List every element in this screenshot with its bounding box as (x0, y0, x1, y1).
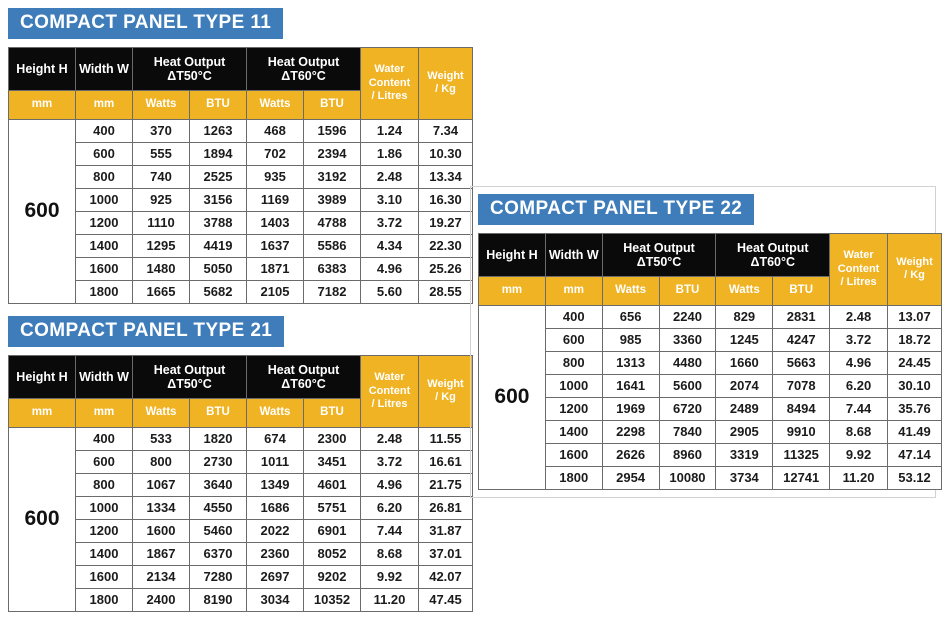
dt60-watts-value: 829 (716, 305, 773, 328)
dt60-btu-value: 6901 (304, 519, 361, 542)
col-header-height: Height H (479, 233, 546, 276)
col-header-height: Height H (9, 355, 76, 398)
table-row: 80010673640134946014.9621.75 (9, 473, 473, 496)
dt50-watts-value: 533 (133, 427, 190, 450)
unit-header-dt50-btu: BTU (190, 90, 247, 119)
weight-value: 42.07 (419, 565, 473, 588)
dt60-watts-value: 702 (247, 142, 304, 165)
unit-header-dt50-btu: BTU (659, 276, 716, 305)
weight-value: 22.30 (419, 234, 473, 257)
dt60-btu-value: 4788 (304, 211, 361, 234)
dt50-watts-value: 1110 (133, 211, 190, 234)
dt60-watts-value: 1403 (247, 211, 304, 234)
width-value: 1400 (76, 542, 133, 565)
unit-header-height-mm: mm (9, 398, 76, 427)
water-content-value: 1.24 (361, 119, 419, 142)
weight-value: 24.45 (888, 351, 942, 374)
col-header-water-content: WaterContent/ Litres (361, 47, 419, 119)
width-value: 1400 (76, 234, 133, 257)
dt50-btu-value: 3788 (190, 211, 247, 234)
dt50-watts-value: 1867 (133, 542, 190, 565)
dt60-btu-value: 2394 (304, 142, 361, 165)
dt50-watts-value: 555 (133, 142, 190, 165)
dt50-watts-value: 800 (133, 450, 190, 473)
dt60-btu-value: 5586 (304, 234, 361, 257)
dt50-btu-value: 6720 (659, 397, 716, 420)
dt50-watts-value: 985 (602, 328, 659, 351)
weight-value: 10.30 (419, 142, 473, 165)
dt50-btu-value: 2730 (190, 450, 247, 473)
dt50-watts-value: 1313 (602, 351, 659, 374)
col-header-water-content: WaterContent/ Litres (361, 355, 419, 427)
table-row: 140018676370236080528.6837.01 (9, 542, 473, 565)
dt50-btu-value: 1263 (190, 119, 247, 142)
height-value: 600 (9, 427, 76, 611)
dt50-btu-value: 5460 (190, 519, 247, 542)
table-row: 120016005460202269017.4431.87 (9, 519, 473, 542)
width-value: 800 (545, 351, 602, 374)
panel-type-21: COMPACT PANEL TYPE 21 Height HWidth WHea… (8, 316, 473, 612)
panel-title-type-21: COMPACT PANEL TYPE 21 (8, 316, 284, 347)
water-content-value: 2.48 (361, 427, 419, 450)
dt50-watts-value: 656 (602, 305, 659, 328)
dt60-btu-value: 3451 (304, 450, 361, 473)
dt60-watts-value: 1686 (247, 496, 304, 519)
dt50-btu-value: 1820 (190, 427, 247, 450)
col-header-heat-output-dt60: Heat OutputΔT60°C (247, 355, 361, 398)
dt50-btu-value: 5682 (190, 280, 247, 303)
dt50-btu-value: 2525 (190, 165, 247, 188)
unit-header-dt60-btu: BTU (304, 398, 361, 427)
dt60-watts-value: 1660 (716, 351, 773, 374)
table-row: 600400370126346815961.247.34 (9, 119, 473, 142)
dt50-btu-value: 1894 (190, 142, 247, 165)
col-header-weight: Weight/ Kg (888, 233, 942, 305)
dt50-btu-value: 5050 (190, 257, 247, 280)
table-wrapper-type-21: Height HWidth WHeat OutputΔT50°CHeat Out… (8, 355, 473, 612)
weight-value: 19.27 (419, 211, 473, 234)
width-value: 600 (545, 328, 602, 351)
table-row: 10009253156116939893.1016.30 (9, 188, 473, 211)
col-header-width: Width W (545, 233, 602, 276)
col-header-width: Width W (76, 47, 133, 90)
table-row: 600400533182067423002.4811.55 (9, 427, 473, 450)
width-value: 1800 (76, 588, 133, 611)
table-row: 100016415600207470786.2030.10 (479, 374, 942, 397)
dt60-watts-value: 1011 (247, 450, 304, 473)
water-content-value: 7.44 (830, 397, 888, 420)
panel-type-22: COMPACT PANEL TYPE 22 Height HWidth WHea… (478, 194, 942, 490)
dt60-watts-value: 3319 (716, 443, 773, 466)
dt50-btu-value: 4419 (190, 234, 247, 257)
unit-header-dt60-btu: BTU (304, 90, 361, 119)
dt60-watts-value: 2074 (716, 374, 773, 397)
weight-value: 13.34 (419, 165, 473, 188)
dt60-btu-value: 11325 (773, 443, 830, 466)
header-row-primary: Height HWidth WHeat OutputΔT50°CHeat Out… (479, 233, 942, 276)
water-content-value: 9.92 (830, 443, 888, 466)
dt60-btu-value: 6383 (304, 257, 361, 280)
width-value: 600 (76, 142, 133, 165)
unit-header-dt50-btu: BTU (190, 398, 247, 427)
water-content-value: 3.72 (361, 211, 419, 234)
table-row: 80013134480166056634.9624.45 (479, 351, 942, 374)
width-value: 1000 (545, 374, 602, 397)
width-value: 1600 (76, 257, 133, 280)
table-row: 800740252593531922.4813.34 (9, 165, 473, 188)
dt50-watts-value: 370 (133, 119, 190, 142)
water-content-value: 11.20 (830, 466, 888, 489)
width-value: 1200 (76, 519, 133, 542)
spec-table-type-21: Height HWidth WHeat OutputΔT50°CHeat Out… (8, 355, 473, 612)
width-value: 1000 (76, 496, 133, 519)
panel-title-type-22: COMPACT PANEL TYPE 22 (478, 194, 754, 225)
unit-header-width-mm: mm (76, 398, 133, 427)
dt60-btu-value: 12741 (773, 466, 830, 489)
dt60-btu-value: 9910 (773, 420, 830, 443)
col-header-height: Height H (9, 47, 76, 90)
water-content-value: 2.48 (361, 165, 419, 188)
dt50-watts-value: 1641 (602, 374, 659, 397)
width-value: 800 (76, 165, 133, 188)
water-content-value: 9.92 (361, 565, 419, 588)
weight-value: 13.07 (888, 305, 942, 328)
water-content-value: 3.72 (361, 450, 419, 473)
width-value: 600 (76, 450, 133, 473)
dt50-btu-value: 3640 (190, 473, 247, 496)
dt50-btu-value: 5600 (659, 374, 716, 397)
dt50-btu-value: 2240 (659, 305, 716, 328)
unit-header-height-mm: mm (9, 90, 76, 119)
dt60-btu-value: 3192 (304, 165, 361, 188)
dt50-watts-value: 1600 (133, 519, 190, 542)
dt60-watts-value: 2905 (716, 420, 773, 443)
dt60-btu-value: 5663 (773, 351, 830, 374)
water-content-value: 3.72 (830, 328, 888, 351)
unit-header-height-mm: mm (479, 276, 546, 305)
col-header-width: Width W (76, 355, 133, 398)
dt60-btu-value: 4601 (304, 473, 361, 496)
unit-header-dt50-watts: Watts (133, 398, 190, 427)
table-row: 140022987840290599108.6841.49 (479, 420, 942, 443)
weight-value: 53.12 (888, 466, 942, 489)
dt60-watts-value: 468 (247, 119, 304, 142)
water-content-value: 5.60 (361, 280, 419, 303)
unit-header-width-mm: mm (545, 276, 602, 305)
water-content-value: 11.20 (361, 588, 419, 611)
weight-value: 7.34 (419, 119, 473, 142)
water-content-value: 8.68 (830, 420, 888, 443)
dt50-watts-value: 1067 (133, 473, 190, 496)
table-row: 120019696720248984947.4435.76 (479, 397, 942, 420)
dt60-btu-value: 2300 (304, 427, 361, 450)
spec-table-type-22: Height HWidth WHeat OutputΔT50°CHeat Out… (478, 233, 942, 490)
weight-value: 26.81 (419, 496, 473, 519)
dt60-btu-value: 10352 (304, 588, 361, 611)
weight-value: 11.55 (419, 427, 473, 450)
weight-value: 25.26 (419, 257, 473, 280)
dt50-btu-value: 4480 (659, 351, 716, 374)
table-row: 1600262689603319113259.9247.14 (479, 443, 942, 466)
dt60-btu-value: 7182 (304, 280, 361, 303)
unit-header-dt50-watts: Watts (602, 276, 659, 305)
width-value: 1200 (76, 211, 133, 234)
width-value: 1200 (545, 397, 602, 420)
col-header-heat-output-dt50: Heat OutputΔT50°C (602, 233, 716, 276)
table-row: 6008002730101134513.7216.61 (9, 450, 473, 473)
header-row-primary: Height HWidth WHeat OutputΔT50°CHeat Out… (9, 47, 473, 90)
dt50-watts-value: 2626 (602, 443, 659, 466)
dt50-btu-value: 3156 (190, 188, 247, 211)
width-value: 400 (545, 305, 602, 328)
dt60-btu-value: 2831 (773, 305, 830, 328)
height-value: 600 (479, 305, 546, 489)
dt50-watts-value: 2400 (133, 588, 190, 611)
col-header-heat-output-dt50: Heat OutputΔT50°C (133, 355, 247, 398)
dt50-btu-value: 7280 (190, 565, 247, 588)
dt60-watts-value: 2105 (247, 280, 304, 303)
dt60-btu-value: 4247 (773, 328, 830, 351)
dt60-btu-value: 3989 (304, 188, 361, 211)
dt60-watts-value: 2489 (716, 397, 773, 420)
dt50-btu-value: 8960 (659, 443, 716, 466)
weight-value: 31.87 (419, 519, 473, 542)
dt50-watts-value: 1665 (133, 280, 190, 303)
weight-value: 21.75 (419, 473, 473, 496)
dt50-watts-value: 2298 (602, 420, 659, 443)
width-value: 1800 (545, 466, 602, 489)
width-value: 1000 (76, 188, 133, 211)
table-wrapper-type-11: Height HWidth WHeat OutputΔT50°CHeat Out… (8, 47, 473, 304)
col-header-weight: Weight/ Kg (419, 355, 473, 427)
header-row-primary: Height HWidth WHeat OutputΔT50°CHeat Out… (9, 355, 473, 398)
col-header-water-content: WaterContent/ Litres (830, 233, 888, 305)
panel-title-type-11: COMPACT PANEL TYPE 11 (8, 8, 283, 39)
water-content-value: 4.34 (361, 234, 419, 257)
dt60-btu-value: 8052 (304, 542, 361, 565)
water-content-value: 8.68 (361, 542, 419, 565)
water-content-value: 3.10 (361, 188, 419, 211)
table-row: 600555189470223941.8610.30 (9, 142, 473, 165)
col-header-heat-output-dt60: Heat OutputΔT60°C (716, 233, 830, 276)
dt60-watts-value: 935 (247, 165, 304, 188)
dt60-watts-value: 1245 (716, 328, 773, 351)
dt60-btu-value: 9202 (304, 565, 361, 588)
dt50-btu-value: 10080 (659, 466, 716, 489)
dt60-watts-value: 674 (247, 427, 304, 450)
dt60-watts-value: 1349 (247, 473, 304, 496)
weight-value: 35.76 (888, 397, 942, 420)
spec-table-type-11: Height HWidth WHeat OutputΔT50°CHeat Out… (8, 47, 473, 304)
table-row: 600400656224082928312.4813.07 (479, 305, 942, 328)
dt60-watts-value: 1871 (247, 257, 304, 280)
dt50-btu-value: 8190 (190, 588, 247, 611)
unit-header-dt50-watts: Watts (133, 90, 190, 119)
weight-value: 16.30 (419, 188, 473, 211)
table-row: 100013344550168657516.2026.81 (9, 496, 473, 519)
width-value: 1400 (545, 420, 602, 443)
dt50-watts-value: 1295 (133, 234, 190, 257)
width-value: 1600 (545, 443, 602, 466)
dt50-watts-value: 1334 (133, 496, 190, 519)
dt50-btu-value: 7840 (659, 420, 716, 443)
width-value: 1800 (76, 280, 133, 303)
table-row: 160014805050187163834.9625.26 (9, 257, 473, 280)
weight-value: 18.72 (888, 328, 942, 351)
water-content-value: 4.96 (830, 351, 888, 374)
dt60-watts-value: 1169 (247, 188, 304, 211)
dt60-btu-value: 1596 (304, 119, 361, 142)
weight-value: 28.55 (419, 280, 473, 303)
height-value: 600 (9, 119, 76, 303)
dt60-watts-value: 2022 (247, 519, 304, 542)
dt50-watts-value: 2954 (602, 466, 659, 489)
table-row: 140012954419163755864.3422.30 (9, 234, 473, 257)
table-row: 160021347280269792029.9242.07 (9, 565, 473, 588)
dt60-btu-value: 7078 (773, 374, 830, 397)
table-row: 18002400819030341035211.2047.45 (9, 588, 473, 611)
dt50-watts-value: 740 (133, 165, 190, 188)
unit-header-dt60-watts: Watts (247, 398, 304, 427)
dt60-watts-value: 2697 (247, 565, 304, 588)
table-wrapper-type-22: Height HWidth WHeat OutputΔT50°CHeat Out… (478, 233, 942, 490)
water-content-value: 6.20 (830, 374, 888, 397)
weight-value: 47.14 (888, 443, 942, 466)
unit-header-dt60-btu: BTU (773, 276, 830, 305)
water-content-value: 7.44 (361, 519, 419, 542)
dt60-watts-value: 2360 (247, 542, 304, 565)
weight-value: 16.61 (419, 450, 473, 473)
col-header-heat-output-dt60: Heat OutputΔT60°C (247, 47, 361, 90)
dt60-watts-value: 3734 (716, 466, 773, 489)
col-header-heat-output-dt50: Heat OutputΔT50°C (133, 47, 247, 90)
dt50-watts-value: 1969 (602, 397, 659, 420)
water-content-value: 4.96 (361, 473, 419, 496)
water-content-value: 2.48 (830, 305, 888, 328)
table-row: 120011103788140347883.7219.27 (9, 211, 473, 234)
unit-header-width-mm: mm (76, 90, 133, 119)
dt50-btu-value: 3360 (659, 328, 716, 351)
dt50-watts-value: 925 (133, 188, 190, 211)
dt60-btu-value: 8494 (773, 397, 830, 420)
dt60-watts-value: 3034 (247, 588, 304, 611)
table-row: 180029541008037341274111.2053.12 (479, 466, 942, 489)
water-content-value: 1.86 (361, 142, 419, 165)
dt50-btu-value: 6370 (190, 542, 247, 565)
panel-type-11: COMPACT PANEL TYPE 11 Height HWidth WHea… (8, 8, 473, 304)
width-value: 400 (76, 119, 133, 142)
dt50-watts-value: 2134 (133, 565, 190, 588)
weight-value: 41.49 (888, 420, 942, 443)
weight-value: 37.01 (419, 542, 473, 565)
weight-value: 30.10 (888, 374, 942, 397)
water-content-value: 6.20 (361, 496, 419, 519)
width-value: 800 (76, 473, 133, 496)
dt50-watts-value: 1480 (133, 257, 190, 280)
unit-header-dt60-watts: Watts (247, 90, 304, 119)
weight-value: 47.45 (419, 588, 473, 611)
dt60-watts-value: 1637 (247, 234, 304, 257)
dt50-btu-value: 4550 (190, 496, 247, 519)
table-row: 6009853360124542473.7218.72 (479, 328, 942, 351)
dt60-btu-value: 5751 (304, 496, 361, 519)
col-header-weight: Weight/ Kg (419, 47, 473, 119)
water-content-value: 4.96 (361, 257, 419, 280)
width-value: 1600 (76, 565, 133, 588)
unit-header-dt60-watts: Watts (716, 276, 773, 305)
width-value: 400 (76, 427, 133, 450)
table-row: 180016655682210571825.6028.55 (9, 280, 473, 303)
